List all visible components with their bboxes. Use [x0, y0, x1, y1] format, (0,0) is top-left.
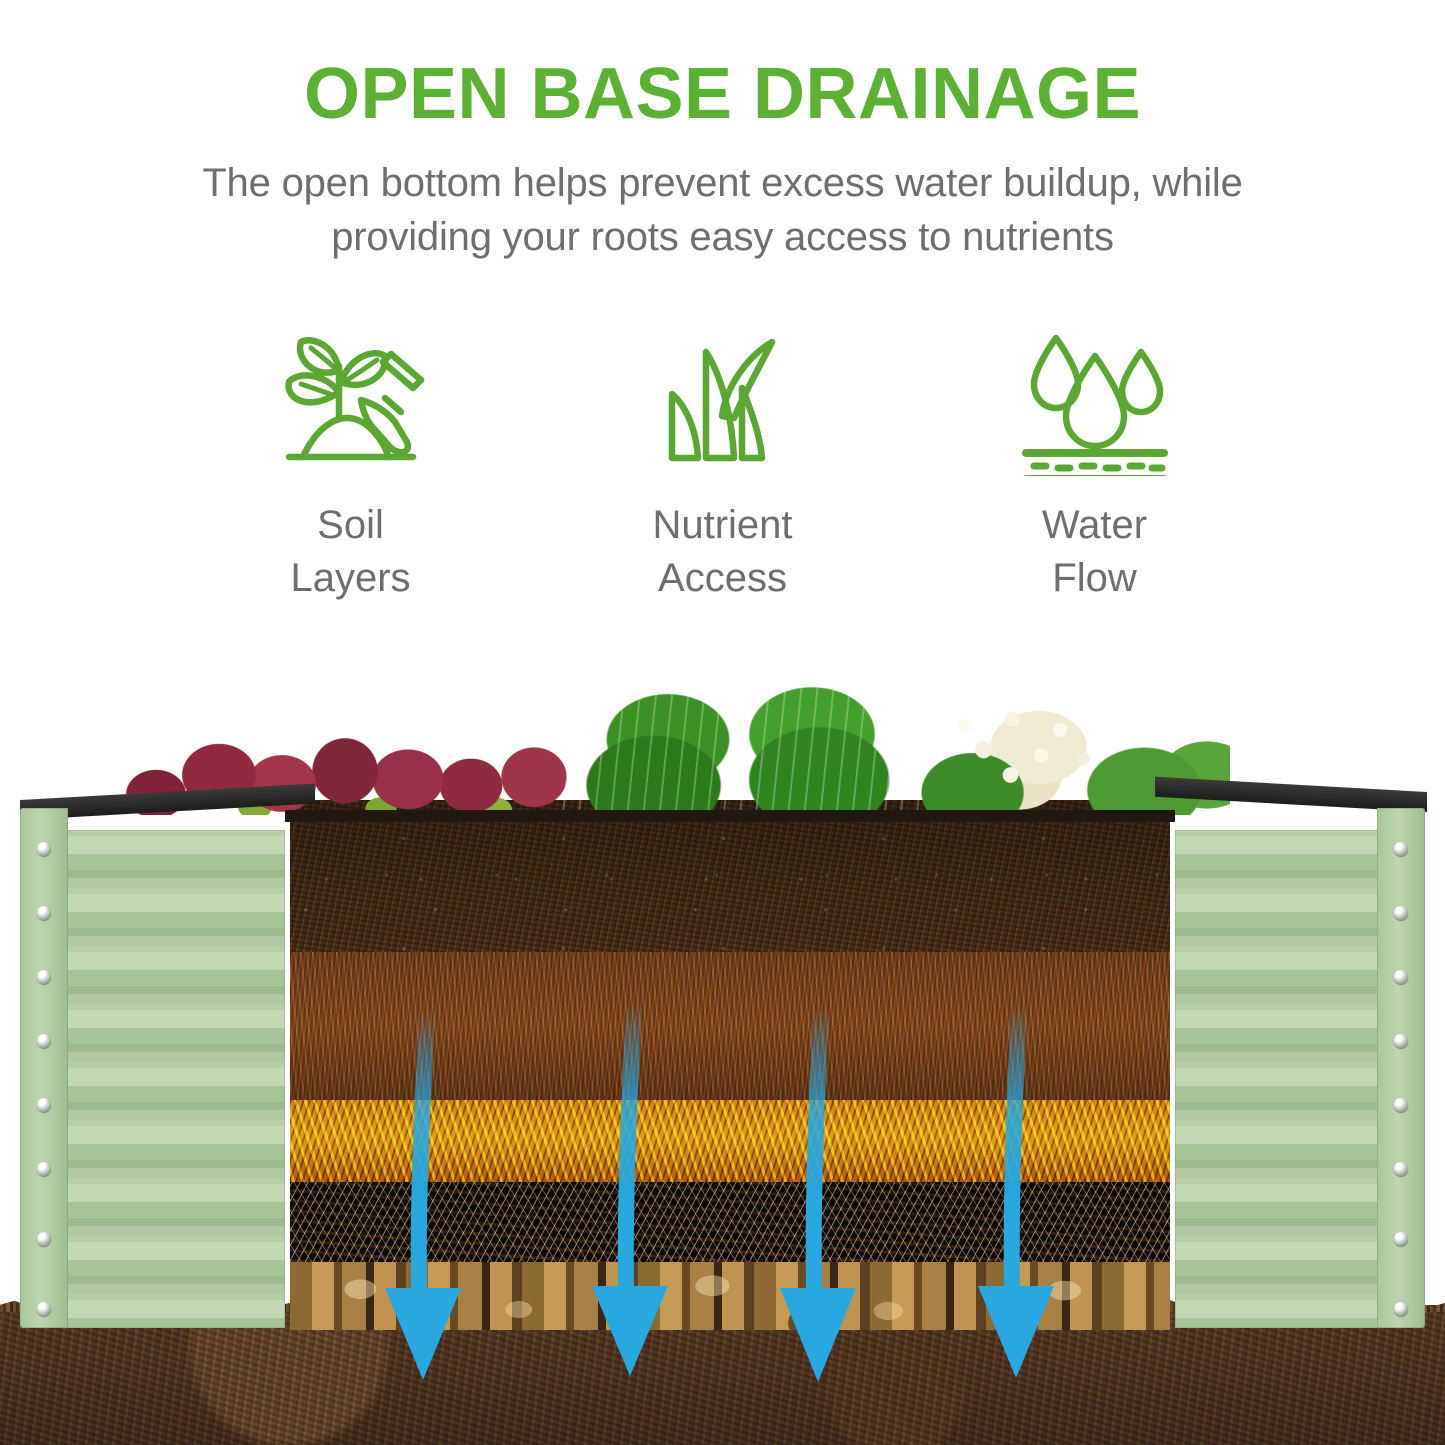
planter-panel-left — [20, 808, 285, 1328]
screw — [37, 1162, 51, 1176]
infographic-header: OPEN BASE DRAINAGE The open bottom helps… — [0, 0, 1445, 265]
soil-layer-twigs — [290, 1182, 1170, 1262]
soil-layer-coir-mulch — [290, 952, 1170, 1100]
screw — [1394, 1098, 1408, 1112]
planter-panel-right — [1175, 808, 1425, 1328]
screw — [37, 842, 51, 856]
feature-water-flow-label: Water Flow — [1042, 499, 1147, 605]
corrugated-steel-sheet-right — [1175, 830, 1383, 1328]
corner-post-right — [1377, 808, 1425, 1328]
corrugated-steel-sheet-left — [62, 830, 285, 1328]
screw — [37, 906, 51, 920]
plant-shovel-icon — [267, 321, 435, 481]
screw — [1394, 906, 1408, 920]
grass-blades-icon — [648, 321, 798, 481]
corner-post-left — [20, 808, 68, 1328]
soil-layer-straw — [290, 1100, 1170, 1182]
soil-layer-wood-logs — [290, 1262, 1170, 1330]
feature-row: Soil Layers Nutrient Access — [0, 321, 1445, 605]
product-cutaway-illustration — [0, 660, 1445, 1445]
screw — [1394, 970, 1408, 984]
screw — [37, 1232, 51, 1246]
screw — [1394, 1232, 1408, 1246]
screw — [1394, 1162, 1408, 1176]
page-subtitle: The open bottom helps prevent excess wat… — [133, 156, 1313, 265]
soil-layer-compost-topsoil — [290, 800, 1170, 952]
feature-soil-layers: Soil Layers — [165, 321, 537, 605]
soil-cross-section — [290, 800, 1170, 1330]
screw — [37, 1098, 51, 1112]
page-title: OPEN BASE DRAINAGE — [0, 58, 1445, 130]
planter-inner-lip — [285, 810, 1175, 822]
water-droplets-soil-icon — [1012, 321, 1177, 481]
feature-water-flow: Water Flow — [909, 321, 1281, 605]
screw — [37, 1302, 51, 1316]
feature-nutrient-access: Nutrient Access — [537, 321, 909, 605]
screw — [37, 1034, 51, 1048]
screw — [1394, 842, 1408, 856]
screw — [1394, 1034, 1408, 1048]
feature-soil-layers-label: Soil Layers — [290, 499, 410, 605]
screw — [1394, 1302, 1408, 1316]
screw — [37, 970, 51, 984]
romaine-lettuce — [560, 680, 920, 815]
feature-nutrient-access-label: Nutrient Access — [652, 499, 792, 605]
